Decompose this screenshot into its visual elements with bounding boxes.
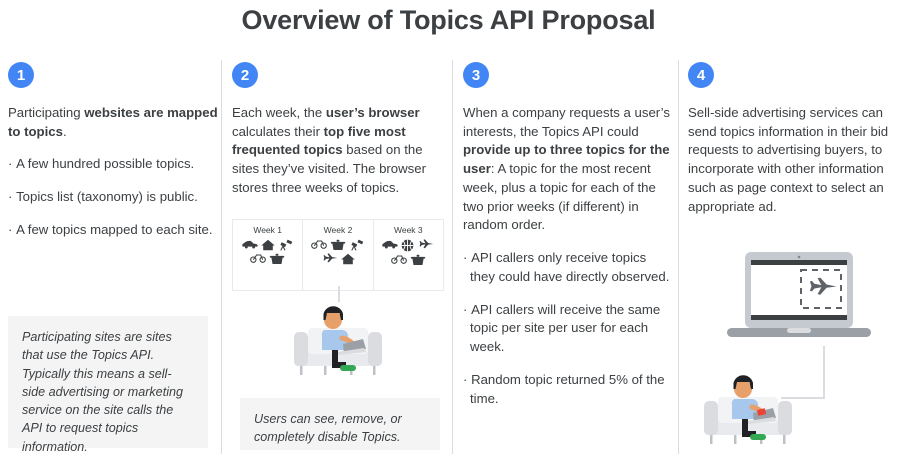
- pot-icon: [410, 254, 426, 266]
- basketball-icon: [401, 239, 414, 252]
- week-label-3: Week 3: [394, 225, 423, 235]
- step-1-bullet-1: A few hundred possible topics.: [8, 155, 220, 174]
- person-on-couch-illustration-col4: [698, 368, 798, 455]
- step-3-bullet-1: API callers only receive topics they cou…: [463, 249, 671, 286]
- infographic-page: Overview of Topics API Proposal 1 Partic…: [0, 0, 897, 454]
- person-on-couch-illustration-col2: [288, 300, 388, 385]
- laptop-connector-vertical: [823, 346, 825, 398]
- step-1-paragraph: Participating websites are mapped to top…: [8, 104, 220, 141]
- step-3-bullet-3: Random topic returned 5% of the time.: [463, 371, 671, 408]
- week-card-3: Week 3: [374, 220, 443, 290]
- step-4-paragraph: Sell-side advertising services can send …: [688, 104, 890, 216]
- step-badge-2: 2: [232, 62, 258, 88]
- telescope-icon: [278, 239, 293, 251]
- week-1-icon-set: [238, 239, 298, 265]
- column-divider-1: [221, 60, 222, 454]
- house-icon: [261, 239, 275, 251]
- step-3-bullet-2: API callers will receive the same topic …: [463, 301, 671, 357]
- plane-icon: [321, 253, 338, 265]
- page-title: Overview of Topics API Proposal: [0, 5, 897, 36]
- step-1-note: Participating sites are sites that use t…: [8, 316, 208, 448]
- step-3-paragraph: When a company requests a user’s interes…: [463, 104, 671, 235]
- step-column-2: 2 Each week, the user’s browser calculat…: [232, 62, 444, 198]
- week-label-1: Week 1: [253, 225, 282, 235]
- house-icon: [341, 253, 355, 265]
- column-divider-2: [452, 60, 453, 454]
- step-2-note: Users can see, remove, or completely dis…: [240, 398, 440, 450]
- bicycle-icon: [250, 253, 266, 265]
- pot-icon: [330, 239, 346, 251]
- step-badge-3: 3: [463, 62, 489, 88]
- step-column-1: 1 Participating websites are mapped to t…: [8, 62, 220, 240]
- step-column-4: 4 Sell-side advertising services can sen…: [688, 62, 890, 216]
- laptop-with-ad-illustration: [723, 248, 875, 353]
- telescope-icon: [349, 239, 364, 251]
- week-card-2: Week 2: [303, 220, 373, 290]
- week-card-1: Week 1: [233, 220, 303, 290]
- step-column-3: 3 When a company requests a user’s inter…: [463, 62, 671, 408]
- column-divider-3: [678, 60, 679, 454]
- step-badge-1: 1: [8, 62, 34, 88]
- car-icon: [382, 239, 398, 252]
- week-3-icon-set: [378, 239, 438, 266]
- step-badge-4: 4: [688, 62, 714, 88]
- week-label-2: Week 2: [324, 225, 353, 235]
- week-2-icon-set: [308, 239, 368, 265]
- weekly-topics-panel: Week 1 Week 2 Week 3: [232, 219, 444, 291]
- bicycle-icon: [391, 254, 407, 266]
- step-2-paragraph: Each week, the user’s browser calculates…: [232, 104, 444, 198]
- car-icon: [242, 239, 258, 251]
- step-1-bullet-3: A few topics mapped to each site.: [8, 221, 220, 240]
- plane-icon: [417, 239, 434, 252]
- bicycle-icon: [311, 239, 327, 251]
- step-1-bullet-2: Topics list (taxonomy) is public.: [8, 188, 220, 207]
- pot-icon: [269, 253, 285, 265]
